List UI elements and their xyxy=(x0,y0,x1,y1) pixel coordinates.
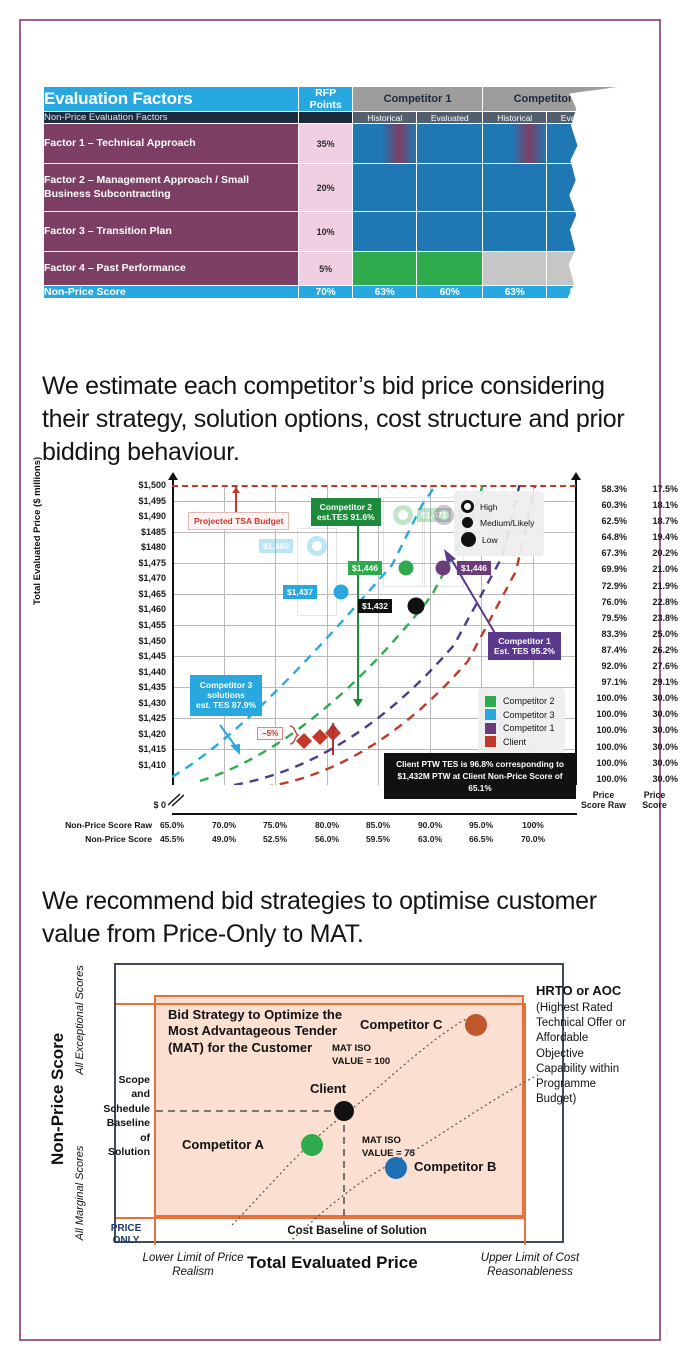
y-tick-label: $1,500 xyxy=(112,480,166,490)
heat-cell xyxy=(417,124,483,164)
heat-cell xyxy=(483,212,547,252)
series-legend-label: Competitor 1 xyxy=(503,723,555,733)
price-score-raw-value: 100.0% xyxy=(580,739,627,755)
x-tick-raw: 95.0% xyxy=(469,820,493,830)
heat-cell xyxy=(547,124,613,164)
y-tick-label: $1,435 xyxy=(112,682,166,692)
series-swatch-icon xyxy=(485,736,496,747)
price-score-row: 72.9%21.9% xyxy=(580,578,678,594)
price-score-raw-value: 72.9% xyxy=(580,578,627,594)
data-point-label: $1,437 xyxy=(283,585,317,599)
heat-cell xyxy=(417,212,483,252)
price-score-row: 97.1%29.1% xyxy=(580,674,678,690)
low-confidence-icon xyxy=(461,532,476,547)
heat-cell xyxy=(612,212,625,252)
x-tick-score: 63.0% xyxy=(418,834,442,844)
price-score-value: 21.0% xyxy=(631,561,678,577)
y-tick-label: $1,465 xyxy=(112,589,166,599)
heat-cell xyxy=(483,164,547,212)
factor-1-points: 35% xyxy=(299,124,353,164)
callout-competitor-3-line2: solutions xyxy=(196,690,256,700)
data-point-competitor-2 xyxy=(393,505,413,525)
price-score-raw-value: 100.0% xyxy=(580,706,627,722)
price-score-raw-value: 97.1% xyxy=(580,674,627,690)
price-score-row: 60.3%18.1% xyxy=(580,497,678,513)
subcol-evaluated-2: Evaluated xyxy=(547,112,613,124)
price-score-row: 69.9%21.0% xyxy=(580,561,678,577)
price-score-raw-value: 100.0% xyxy=(580,771,627,787)
price-score-columns: 58.3%17.5%60.3%18.1%62.5%18.7%64.8%19.4%… xyxy=(580,481,678,810)
x-tick-score: 66.5% xyxy=(469,834,493,844)
chart-y-axis-label: Total Evaluated Price ($ millions) xyxy=(32,457,43,605)
y-tick-label: $1,490 xyxy=(112,511,166,521)
y-tick-label: $1,495 xyxy=(112,496,166,506)
subcol-evaluated-1: Evaluated xyxy=(417,112,483,124)
price-score-row: 67.3%20.2% xyxy=(580,545,678,561)
y-axis-arrow-left xyxy=(168,472,178,480)
delta-brace-icon xyxy=(288,725,300,745)
x-tick-score: 45.5% xyxy=(160,834,184,844)
factor-3-points: 10% xyxy=(299,212,353,252)
callout-competitor-2-line1: Competitor 2 xyxy=(317,502,375,512)
heat-cell xyxy=(547,252,613,286)
mat-diagram: Bid Strategy to Optimize the Most Advant… xyxy=(42,955,638,1290)
y-tick-label: $1,425 xyxy=(112,713,166,723)
price-score-raw-value: 60.3% xyxy=(580,497,627,513)
price-score-value: 29.1% xyxy=(631,674,678,690)
price-score-raw-value: 83.3% xyxy=(580,626,627,642)
torn-edge-bottom xyxy=(43,314,625,334)
callout-projected-tsa-budget: Projected TSA Budget xyxy=(188,512,289,530)
heat-cell xyxy=(547,164,613,212)
mat-lower-limit-note: Lower Limit of Price Realism xyxy=(138,1251,248,1280)
price-score-row: 100.0%30.0% xyxy=(580,706,678,722)
price-score-row: 92.0%27.6% xyxy=(580,658,678,674)
x-tick-score: 56.0% xyxy=(315,834,339,844)
callout-competitor-3-line1: Competitor 3 xyxy=(196,680,256,690)
series-swatch-icon xyxy=(485,696,496,707)
price-score-value: 18.1% xyxy=(631,497,678,513)
mat-label-competitor-a: Competitor A xyxy=(182,1137,264,1152)
price-score-value: 30.0% xyxy=(631,690,678,706)
price-score-value: 26.2% xyxy=(631,642,678,658)
mat-point-competitor-c xyxy=(465,1014,487,1036)
mat-point-competitor-b xyxy=(385,1157,407,1179)
factor-4-points: 5% xyxy=(299,252,353,286)
heat-cell xyxy=(417,164,483,212)
heat-cell xyxy=(547,212,613,252)
table-row: Factor 2 – Management Approach / Small B… xyxy=(44,164,626,212)
heat-cell xyxy=(353,124,417,164)
callout-competitor-1-line2: Est. TES 95.2% xyxy=(494,646,555,656)
rfp-points-header: RFP Points xyxy=(299,87,353,112)
heat-cell xyxy=(353,252,417,286)
y-tick-label: $1,470 xyxy=(112,573,166,583)
callout-competitor-2-line2: est.TES 91.6% xyxy=(317,512,375,522)
factor-4-label: Factor 4 – Past Performance xyxy=(44,252,299,286)
price-score-value: 20.2% xyxy=(631,545,678,561)
data-point-label: $1,446 xyxy=(457,561,491,575)
table-header-row: Evaluation Factors RFP Points Competitor… xyxy=(44,87,626,112)
heat-cell xyxy=(353,212,417,252)
price-score-raw-value: 67.3% xyxy=(580,545,627,561)
y-axis-arrow-right xyxy=(571,472,581,480)
factor-1-label: Factor 1 – Technical Approach xyxy=(44,124,299,164)
factor-2-points: 20% xyxy=(299,164,353,212)
competitor-1b-header: Competitor 1 xyxy=(483,87,613,112)
y-tick-label: $1,440 xyxy=(112,667,166,677)
legend-label-medium: Medium/Likely xyxy=(480,518,534,528)
data-point-competitor-3 xyxy=(334,585,349,600)
heat-cell xyxy=(612,164,625,212)
score-value: 60% xyxy=(417,286,483,299)
price-score-row: 64.8%19.4% xyxy=(580,529,678,545)
price-score-value: 30.0% xyxy=(631,755,678,771)
price-score-raw-value: 100.0% xyxy=(580,690,627,706)
price-score-row: 100.0%30.0% xyxy=(580,755,678,771)
chart-x-axis-line xyxy=(172,813,577,815)
x-row-label-score: Non-Price Score xyxy=(34,834,152,844)
x-tick-raw: 80.0% xyxy=(315,820,339,830)
data-point-label: $1,432 xyxy=(358,599,392,613)
y-tick-label: $1480 xyxy=(112,542,166,552)
subcol-historical-2: Historical xyxy=(483,112,547,124)
y-tick-label: $1,420 xyxy=(112,729,166,739)
medium-confidence-icon xyxy=(462,517,473,528)
price-score-row: 100.0%30.0% xyxy=(580,690,678,706)
subcol-historical-3: Historical xyxy=(612,112,625,124)
price-score-value: 30.0% xyxy=(631,771,678,787)
y-tick-label: $1,455 xyxy=(112,620,166,630)
price-score-row: 83.3%25.0% xyxy=(580,626,678,642)
price-score-raw-value: 64.8% xyxy=(580,529,627,545)
price-score-value: 22.8% xyxy=(631,594,678,610)
price-chart: Total Evaluated Price ($ millions) $1,50… xyxy=(26,485,654,860)
heat-cell xyxy=(417,252,483,286)
competitor-1a-header: Competitor 1 xyxy=(353,87,483,112)
series-legend-label: Competitor 2 xyxy=(503,696,555,706)
mat-x-axis-label: Total Evaluated Price xyxy=(247,1253,418,1273)
series-legend: Competitor 2Competitor 3Competitor 1Clie… xyxy=(478,688,565,755)
mat-point-client xyxy=(334,1101,354,1121)
series-legend-item: Competitor 3 xyxy=(485,709,555,720)
axis-break-icon xyxy=(166,793,184,807)
mat-label-client: Client xyxy=(310,1081,346,1096)
evaluation-factors-table: Evaluation Factors RFP Points Competitor… xyxy=(43,86,625,334)
data-point-competitor-1 xyxy=(434,505,454,525)
table-row: Factor 3 – Transition Plan 10% xyxy=(44,212,626,252)
x-tick-score: 52.5% xyxy=(263,834,287,844)
price-score-raw-value: 76.0% xyxy=(580,594,627,610)
data-point-label: $1,460 xyxy=(259,539,293,553)
price-score-value: 19.4% xyxy=(631,529,678,545)
score-value: 63% xyxy=(483,286,547,299)
slide-page: Evaluation Factors RFP Points Competitor… xyxy=(0,0,680,1360)
score-value: 58% xyxy=(547,286,613,299)
headline-estimate-bid-price: We estimate each competitor’s bid price … xyxy=(42,370,632,469)
legend-item-medium: Medium/Likely xyxy=(461,516,534,529)
price-score-row: 62.5%18.7% xyxy=(580,513,678,529)
price-score-raw-value: 87.4% xyxy=(580,642,627,658)
y-tick-label: $1,460 xyxy=(112,604,166,614)
data-point-competitor-2 xyxy=(399,561,414,576)
x-tick-score: 70.0% xyxy=(521,834,545,844)
callout-competitor-1-line1: Competitor 1 xyxy=(494,636,555,646)
legend-label-low: Low xyxy=(482,535,498,545)
mat-label-competitor-b: Competitor B xyxy=(414,1159,496,1174)
x-tick-raw: 65.0% xyxy=(160,820,184,830)
chart-plot-area: Projected TSA Budget Competitor 2 est.TE… xyxy=(172,485,576,785)
mat-upper-limit-note: Upper Limit of Cost Reasonableness xyxy=(470,1251,590,1280)
confidence-legend: High Medium/Likely Low xyxy=(454,491,544,556)
x-tick-raw: 85.0% xyxy=(366,820,390,830)
price-score-row: 100.0%30.0% xyxy=(580,771,678,787)
callout-competitor-3-leader xyxy=(216,723,246,757)
mat-point-competitor-a xyxy=(301,1134,323,1156)
price-score-raw-value: 69.9% xyxy=(580,561,627,577)
x-row-label-raw: Non-Price Score Raw xyxy=(34,820,152,830)
price-score-raw-value: 58.3% xyxy=(580,481,627,497)
price-score-column-header: Price Score Raw xyxy=(580,787,627,810)
heat-cell xyxy=(483,252,547,286)
price-score-value: 25.0% xyxy=(631,626,678,642)
table-subheader-row: Non-Price Evaluation Factors Historical … xyxy=(44,112,626,124)
price-score-row: 100.0%30.0% xyxy=(580,739,678,755)
price-score-row: 76.0%22.8% xyxy=(580,594,678,610)
data-point-competitor-1 xyxy=(436,561,451,576)
series-swatch-icon xyxy=(485,709,496,720)
headline-recommend-bid-strategies: We recommend bid strategies to optimise … xyxy=(42,885,632,951)
high-confidence-icon xyxy=(461,500,474,513)
series-legend-item: Client xyxy=(485,736,555,747)
non-price-score-points: 70% xyxy=(299,286,353,299)
mat-y-top-label: All Exceptional Scores xyxy=(74,965,86,1075)
price-score-value: 21.9% xyxy=(631,578,678,594)
price-score-row: 87.4%26.2% xyxy=(580,642,678,658)
price-score-raw-value: 100.0% xyxy=(580,755,627,771)
factor-3-label: Factor 3 – Transition Plan xyxy=(44,212,299,252)
price-score-raw-value: 92.0% xyxy=(580,658,627,674)
price-score-value: 17.5% xyxy=(631,481,678,497)
score-value: 63% xyxy=(353,286,417,299)
data-point-competitor-3 xyxy=(307,536,327,556)
price-score-row: 58.3%17.5% xyxy=(580,481,678,497)
price-score-value: 30.0% xyxy=(631,706,678,722)
series-legend-item: Competitor 1 xyxy=(485,723,555,734)
table-title: Evaluation Factors xyxy=(44,87,299,112)
callout-competitor-3-line3: est. TES 87.9% xyxy=(196,700,256,710)
legend-item-low: Low xyxy=(461,532,534,547)
score-value: 67% xyxy=(612,286,625,299)
price-score-column-header: Price Score xyxy=(631,787,678,810)
legend-label-high: High xyxy=(480,502,497,512)
legend-item-high: High xyxy=(461,500,534,513)
y-tick-label-zero: $ 0 xyxy=(112,800,166,810)
x-tick-score: 59.5% xyxy=(366,834,390,844)
price-score-headers: Price Score RawPrice Score xyxy=(580,787,678,810)
data-point-client xyxy=(408,598,425,615)
y-tick-label: $1,410 xyxy=(112,760,166,770)
subheader-label: Non-Price Evaluation Factors xyxy=(44,112,299,124)
mat-y-axis-label: Non-Price Score xyxy=(48,1033,68,1165)
series-legend-label: Client xyxy=(503,737,526,747)
y-tick-label: $1,475 xyxy=(112,558,166,568)
x-tick-raw: 70.0% xyxy=(212,820,236,830)
delta-label-minus-5-percent: −5% xyxy=(257,727,283,740)
factor-2-label: Factor 2 – Management Approach / Small B… xyxy=(44,164,299,212)
mat-y-bottom-label: All Marginal Scores xyxy=(74,1143,86,1243)
y-tick-label: $1485 xyxy=(112,527,166,537)
price-score-raw-value: 79.5% xyxy=(580,610,627,626)
series-swatch-icon xyxy=(485,723,496,734)
table-score-row: Non-Price Score 70% 63% 60% 63% 58% 67% xyxy=(44,286,626,299)
price-score-value: 18.7% xyxy=(631,513,678,529)
series-legend-item: Competitor 2 xyxy=(485,696,555,707)
price-score-row: 79.5%23.8% xyxy=(580,610,678,626)
heat-cell xyxy=(612,252,625,286)
price-score-value: 23.8% xyxy=(631,610,678,626)
price-score-row: 100.0%30.0% xyxy=(580,722,678,738)
annotation-client-ptw: Client PTW TES is 96.8% corresponding to… xyxy=(384,753,576,799)
competitor-1c-header xyxy=(612,87,625,112)
x-tick-raw: 75.0% xyxy=(263,820,287,830)
price-score-value: 30.0% xyxy=(631,722,678,738)
y-tick-label: $1,445 xyxy=(112,651,166,661)
y-tick-label: $1,430 xyxy=(112,698,166,708)
heat-cell xyxy=(483,124,547,164)
heat-cell xyxy=(353,164,417,212)
subheader-blank xyxy=(299,112,353,124)
x-tick-raw: 100% xyxy=(522,820,544,830)
table-row: Factor 4 – Past Performance 5% xyxy=(44,252,626,286)
price-score-raw-value: 62.5% xyxy=(580,513,627,529)
price-score-value: 27.6% xyxy=(631,658,678,674)
callout-competitor-2: Competitor 2 est.TES 91.6% xyxy=(311,498,381,526)
y-tick-label: $1,450 xyxy=(112,636,166,646)
mat-label-competitor-c: Competitor C xyxy=(360,1017,442,1032)
price-score-raw-value: 100.0% xyxy=(580,722,627,738)
heat-cell xyxy=(612,124,625,164)
annotation-leader xyxy=(332,723,334,755)
y-tick-label: $1,415 xyxy=(112,744,166,754)
series-legend-label: Competitor 3 xyxy=(503,710,555,720)
budget-arrow xyxy=(235,487,237,513)
x-tick-raw: 90.0% xyxy=(418,820,442,830)
non-price-score-label: Non-Price Score xyxy=(44,286,299,299)
subcol-historical-1: Historical xyxy=(353,112,417,124)
price-score-value: 30.0% xyxy=(631,739,678,755)
table-row: Factor 1 – Technical Approach 35% xyxy=(44,124,626,164)
callout-competitor-3: Competitor 3 solutions est. TES 87.9% xyxy=(190,675,262,716)
data-point-label: $1,446 xyxy=(348,561,382,575)
x-tick-score: 49.0% xyxy=(212,834,236,844)
callout-competitor-1: Competitor 1 Est. TES 95.2% xyxy=(488,632,561,660)
